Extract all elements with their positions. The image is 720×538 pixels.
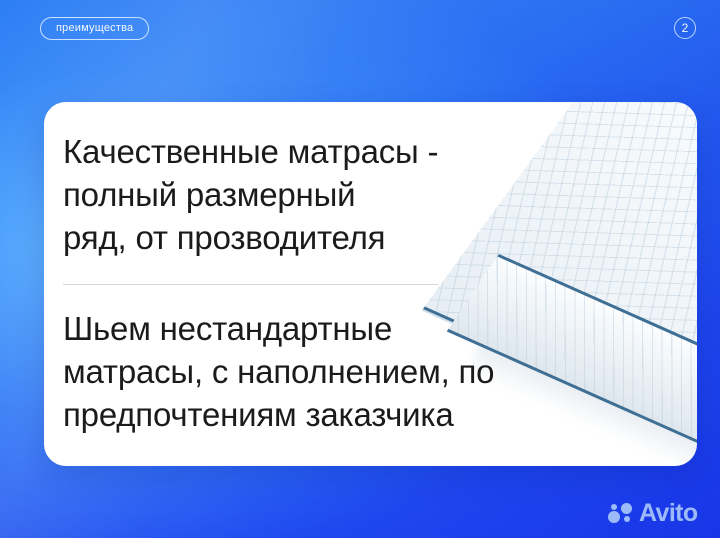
text-divider bbox=[63, 284, 438, 285]
step-number-badge: 2 bbox=[674, 17, 696, 39]
card-subline: Шьем нестандартные матрасы, с наполнение… bbox=[63, 307, 553, 436]
avito-logo-icon bbox=[608, 502, 634, 524]
step-number-label: 2 bbox=[682, 22, 689, 34]
content-card: Качественные матрасы - полный размерный … bbox=[44, 102, 697, 466]
card-text-block: Качественные матрасы - полный размерный … bbox=[63, 130, 463, 436]
category-badge: преимущества bbox=[40, 17, 149, 40]
card-headline: Качественные матрасы - полный размерный … bbox=[63, 130, 463, 259]
category-badge-label: преимущества bbox=[56, 23, 133, 34]
slide-canvas: преимущества 2 Качественные матрасы - по… bbox=[0, 0, 720, 538]
avito-wordmark: Avito bbox=[639, 501, 698, 526]
avito-watermark: Avito bbox=[608, 498, 698, 528]
